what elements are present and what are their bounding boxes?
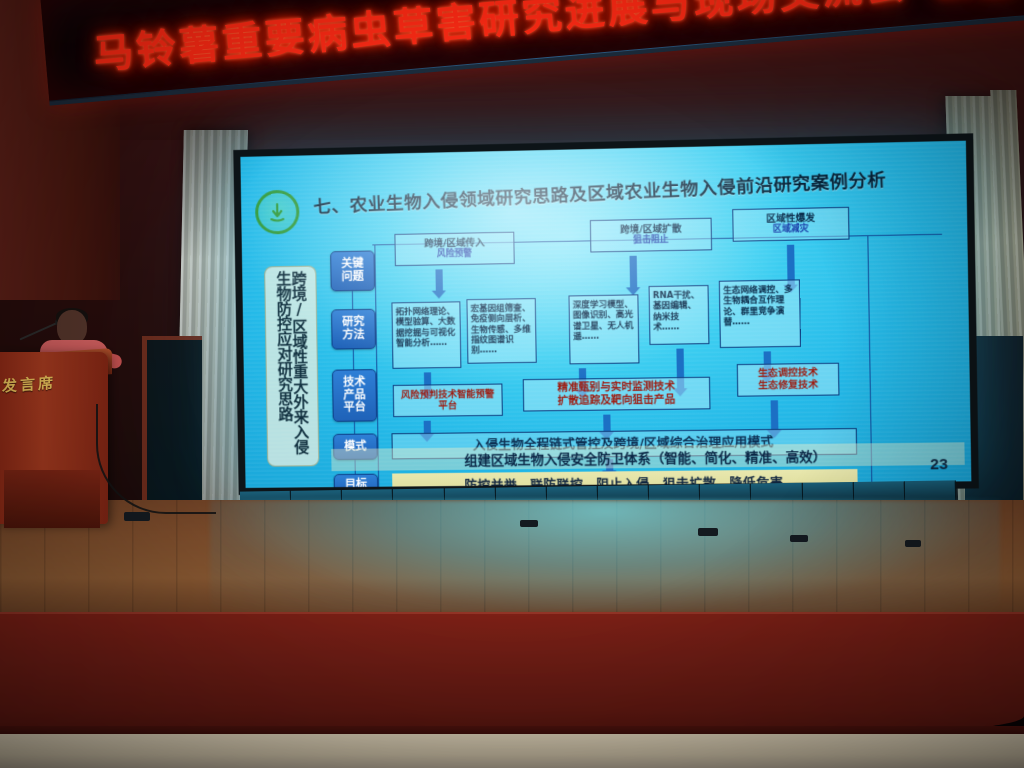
floor-monitor-1	[520, 520, 538, 527]
row-label-text: 目标	[345, 479, 367, 488]
floor-monitor-4	[905, 540, 921, 547]
floor-monitor-3	[790, 535, 808, 542]
banner-location: 新疆·昭	[931, 0, 1024, 5]
row-label-text: 技术 产品 平台	[343, 376, 366, 414]
vertical-caption-text: 跨境/区域性重大外来入侵生物防控应对研究思路	[275, 271, 309, 462]
row-label-text: 关键 问题	[341, 258, 364, 284]
connector	[352, 291, 354, 309]
green-circle-sprout-icon	[255, 190, 300, 235]
connector	[353, 349, 355, 369]
connector	[354, 422, 356, 434]
row-label-key-issues: 关键 问题	[330, 250, 375, 291]
hall-floor	[0, 734, 1024, 768]
row-label-goal: 目标	[334, 474, 379, 488]
floor-power-strip	[124, 512, 150, 521]
row-label-tech-platform: 技术 产品 平台	[332, 369, 377, 422]
row-label-text: 研究 方法	[342, 316, 365, 342]
slide-vertical-caption: 跨境/区域性重大外来入侵生物防控应对研究思路	[264, 266, 319, 467]
key-issue-line2: 区域减灾	[773, 224, 809, 235]
stage-floor-light-reflection	[210, 500, 1000, 612]
screen-surface: 七、农业生物入侵领域研究思路及区域农业生物入侵前沿研究案例分析 跨境/区域性重大…	[240, 141, 971, 488]
slide-title: 七、农业生物入侵领域研究思路及区域农业生物入侵前沿研究案例分析	[313, 163, 956, 219]
row-label-research-method: 研究 方法	[331, 309, 376, 350]
slide-page-number: 23	[930, 456, 948, 474]
slide-content: 七、农业生物入侵领域研究思路及区域农业生物入侵前沿研究案例分析 跨境/区域性重大…	[240, 141, 971, 488]
speaker-head	[57, 310, 87, 344]
stage-front-apron	[0, 612, 1024, 742]
presentation-screen: 七、农业生物入侵领域研究思路及区域农业生物入侵前沿研究案例分析 跨境/区域性重大…	[233, 133, 979, 495]
floor-monitor-2	[698, 528, 718, 536]
conference-room-photo: 马铃薯重要病虫草害研究进展与现场交流会新疆·昭 七、农业生物入侵领域研究思路及区…	[0, 0, 1024, 768]
podium-base	[4, 470, 100, 528]
